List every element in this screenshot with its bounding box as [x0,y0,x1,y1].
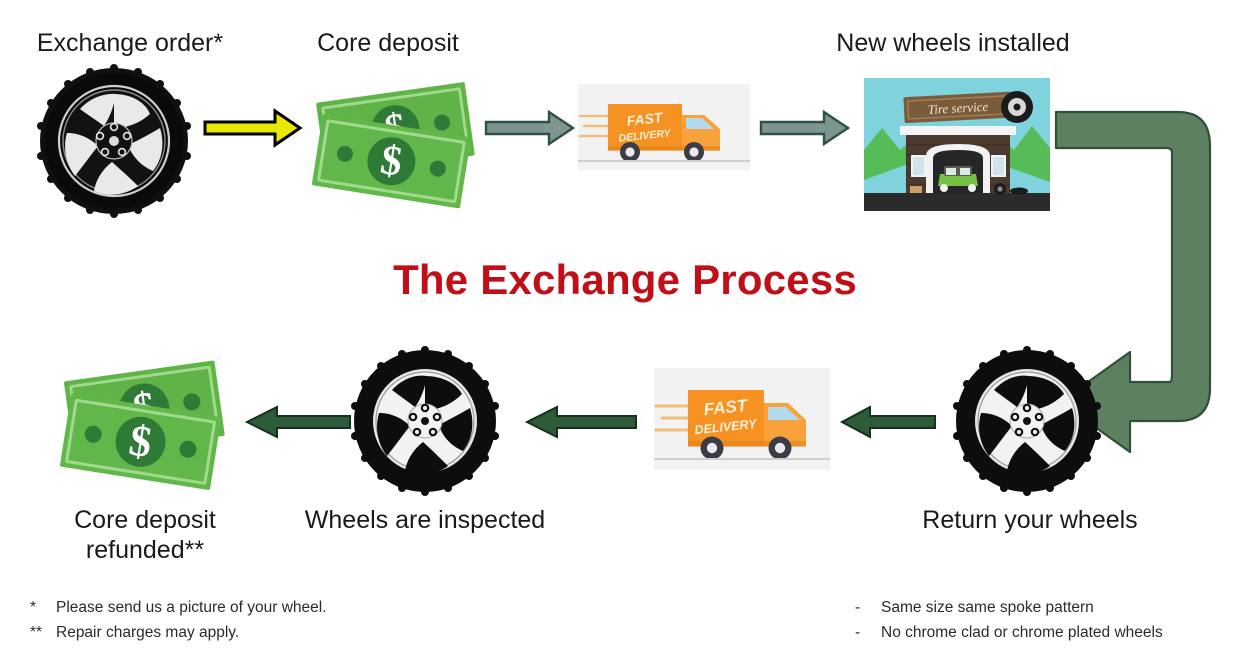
footnote-right-row-1: - Same size same spoke pattern [855,595,1245,620]
footnote-text: Please send us a picture of your wheel. [56,595,327,620]
label-wheels-are-inspected: Wheels are inspected [285,505,565,536]
silver-alloy-wheel-icon-return [954,348,1100,494]
footnote-mark: * [30,595,56,620]
black-alloy-wheel-icon [38,66,190,216]
arrow-return-to-shipping-back [840,405,936,439]
footnotes-right: - Same size same spoke pattern - No chro… [855,595,1245,645]
footnote-left-row-2: ** Repair charges may apply. [30,620,450,645]
footnote-mark: - [855,620,881,645]
page-title: The Exchange Process [0,256,1250,304]
fast-delivery-van-icon-bottom: FAST DELIVERY [654,368,830,470]
label-core-deposit-refunded-line2: refunded** [20,535,270,566]
label-exchange-order: Exchange order* [10,28,250,59]
shop-sign-text: Tire service [927,99,988,117]
arrow-deposit-to-shipping [485,110,575,146]
exchange-process-diagram: Exchange order* Core deposit New wheels … [0,0,1250,666]
arrow-shipping-back-to-inspection [525,405,637,439]
dollar-bills-icon: $ $ [312,74,480,206]
footnote-right-row-2: - No chrome clad or chrome plated wheels [855,620,1245,645]
arrow-order-to-deposit [203,108,302,148]
footnote-mark: ** [30,620,56,645]
silver-alloy-wheel-icon-inspected [352,348,498,494]
dollar-bills-icon-refund: $ $ [58,352,238,488]
label-return-your-wheels: Return your wheels [885,505,1175,536]
footnote-text: Repair charges may apply. [56,620,239,645]
tire-service-shop-icon: Tire service [864,78,1050,211]
footnote-text: Same size same spoke pattern [881,595,1094,620]
label-core-deposit-refunded-line1: Core deposit [20,505,270,536]
fast-delivery-van-icon-top: FAST DELIVERY [578,84,750,170]
label-new-wheels-installed: New wheels installed [808,28,1098,59]
footnote-mark: - [855,595,881,620]
footnotes-left: * Please send us a picture of your wheel… [30,595,450,645]
label-core-deposit: Core deposit [288,28,488,59]
arrow-shipping-to-install [760,110,850,146]
arrow-inspection-to-refund [245,405,351,439]
footnote-left-row-1: * Please send us a picture of your wheel… [30,595,450,620]
footnote-text: No chrome clad or chrome plated wheels [881,620,1163,645]
